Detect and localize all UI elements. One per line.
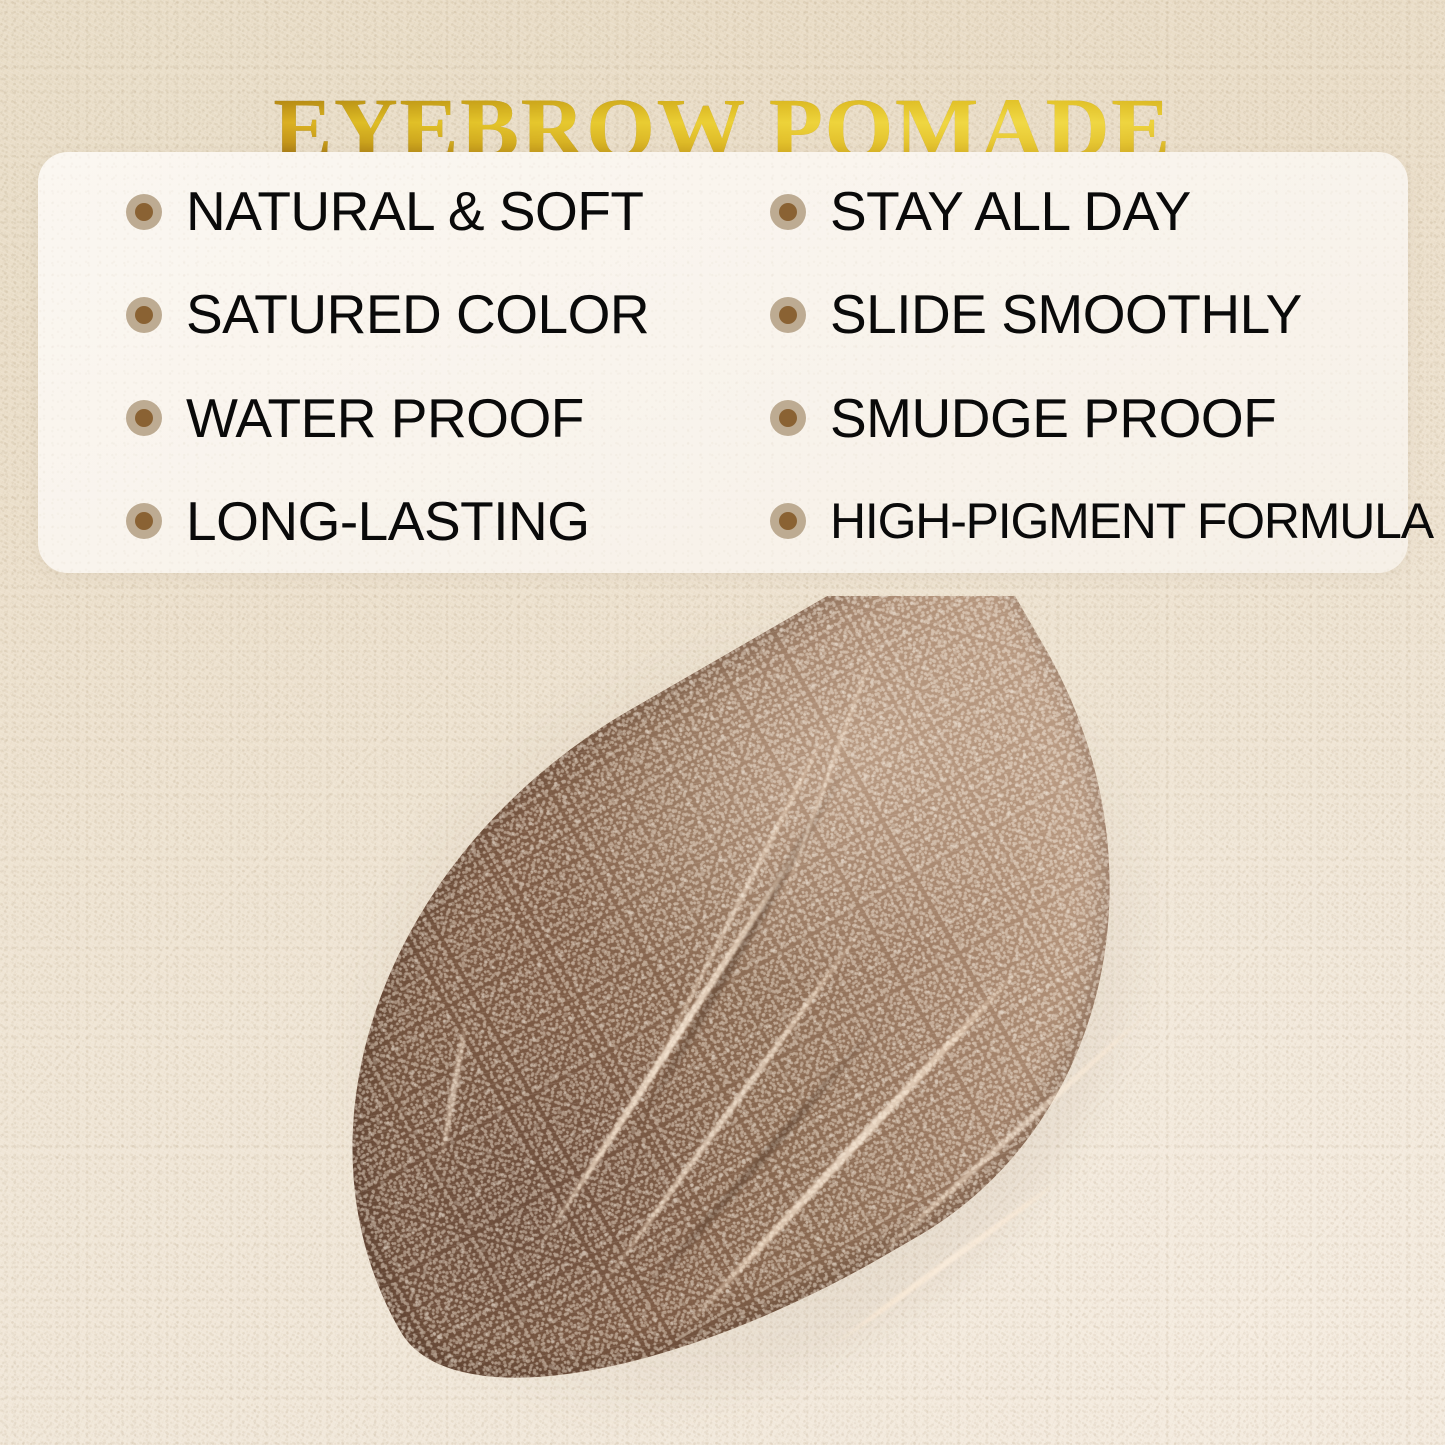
- bullet-dot-icon: [126, 194, 162, 230]
- smear-texture-strokes: [248, 596, 1258, 1396]
- bullet-dot-icon: [770, 400, 806, 436]
- feature-label: LONG-LASTING: [186, 494, 590, 549]
- bullet-dot-icon: [126, 400, 162, 436]
- feature-item-long-lasting: LONG-LASTING: [38, 470, 708, 573]
- pomade-smear-swatch: [248, 596, 1258, 1396]
- bullet-dot-icon: [126, 297, 162, 333]
- smear-body: [248, 596, 1258, 1396]
- feature-item-slide-smoothly: SLIDE SMOOTHLY: [708, 263, 1408, 366]
- bullet-dot-icon: [770, 297, 806, 333]
- bullet-dot-icon: [770, 194, 806, 230]
- feature-label: SLIDE SMOOTHLY: [830, 287, 1302, 342]
- feature-label: WATER PROOF: [186, 391, 584, 446]
- feature-label: NATURAL & SOFT: [186, 184, 644, 239]
- feature-label: SATURED COLOR: [186, 287, 649, 342]
- product-feature-image: EYEBROW POMADE NATURAL & SOFT STAY ALL D…: [0, 0, 1445, 1445]
- feature-grid: NATURAL & SOFT STAY ALL DAY SATURED COLO…: [38, 152, 1408, 573]
- feature-item-smudge-proof: SMUDGE PROOF: [708, 367, 1408, 470]
- bullet-dot-icon: [126, 503, 162, 539]
- feature-item-stay-all-day: STAY ALL DAY: [708, 160, 1408, 263]
- bullet-dot-icon: [770, 503, 806, 539]
- smear-clip: [248, 596, 1258, 1396]
- feature-label: STAY ALL DAY: [830, 184, 1191, 239]
- feature-card: NATURAL & SOFT STAY ALL DAY SATURED COLO…: [38, 152, 1408, 573]
- feature-item-satured-color: SATURED COLOR: [38, 263, 708, 366]
- feature-label: SMUDGE PROOF: [830, 391, 1276, 446]
- feature-item-high-pigment-formula: HIGH-PIGMENT FORMULA: [708, 470, 1408, 573]
- feature-item-natural-soft: NATURAL & SOFT: [38, 160, 708, 263]
- feature-label: HIGH-PIGMENT FORMULA: [830, 496, 1433, 546]
- feature-item-water-proof: WATER PROOF: [38, 367, 708, 470]
